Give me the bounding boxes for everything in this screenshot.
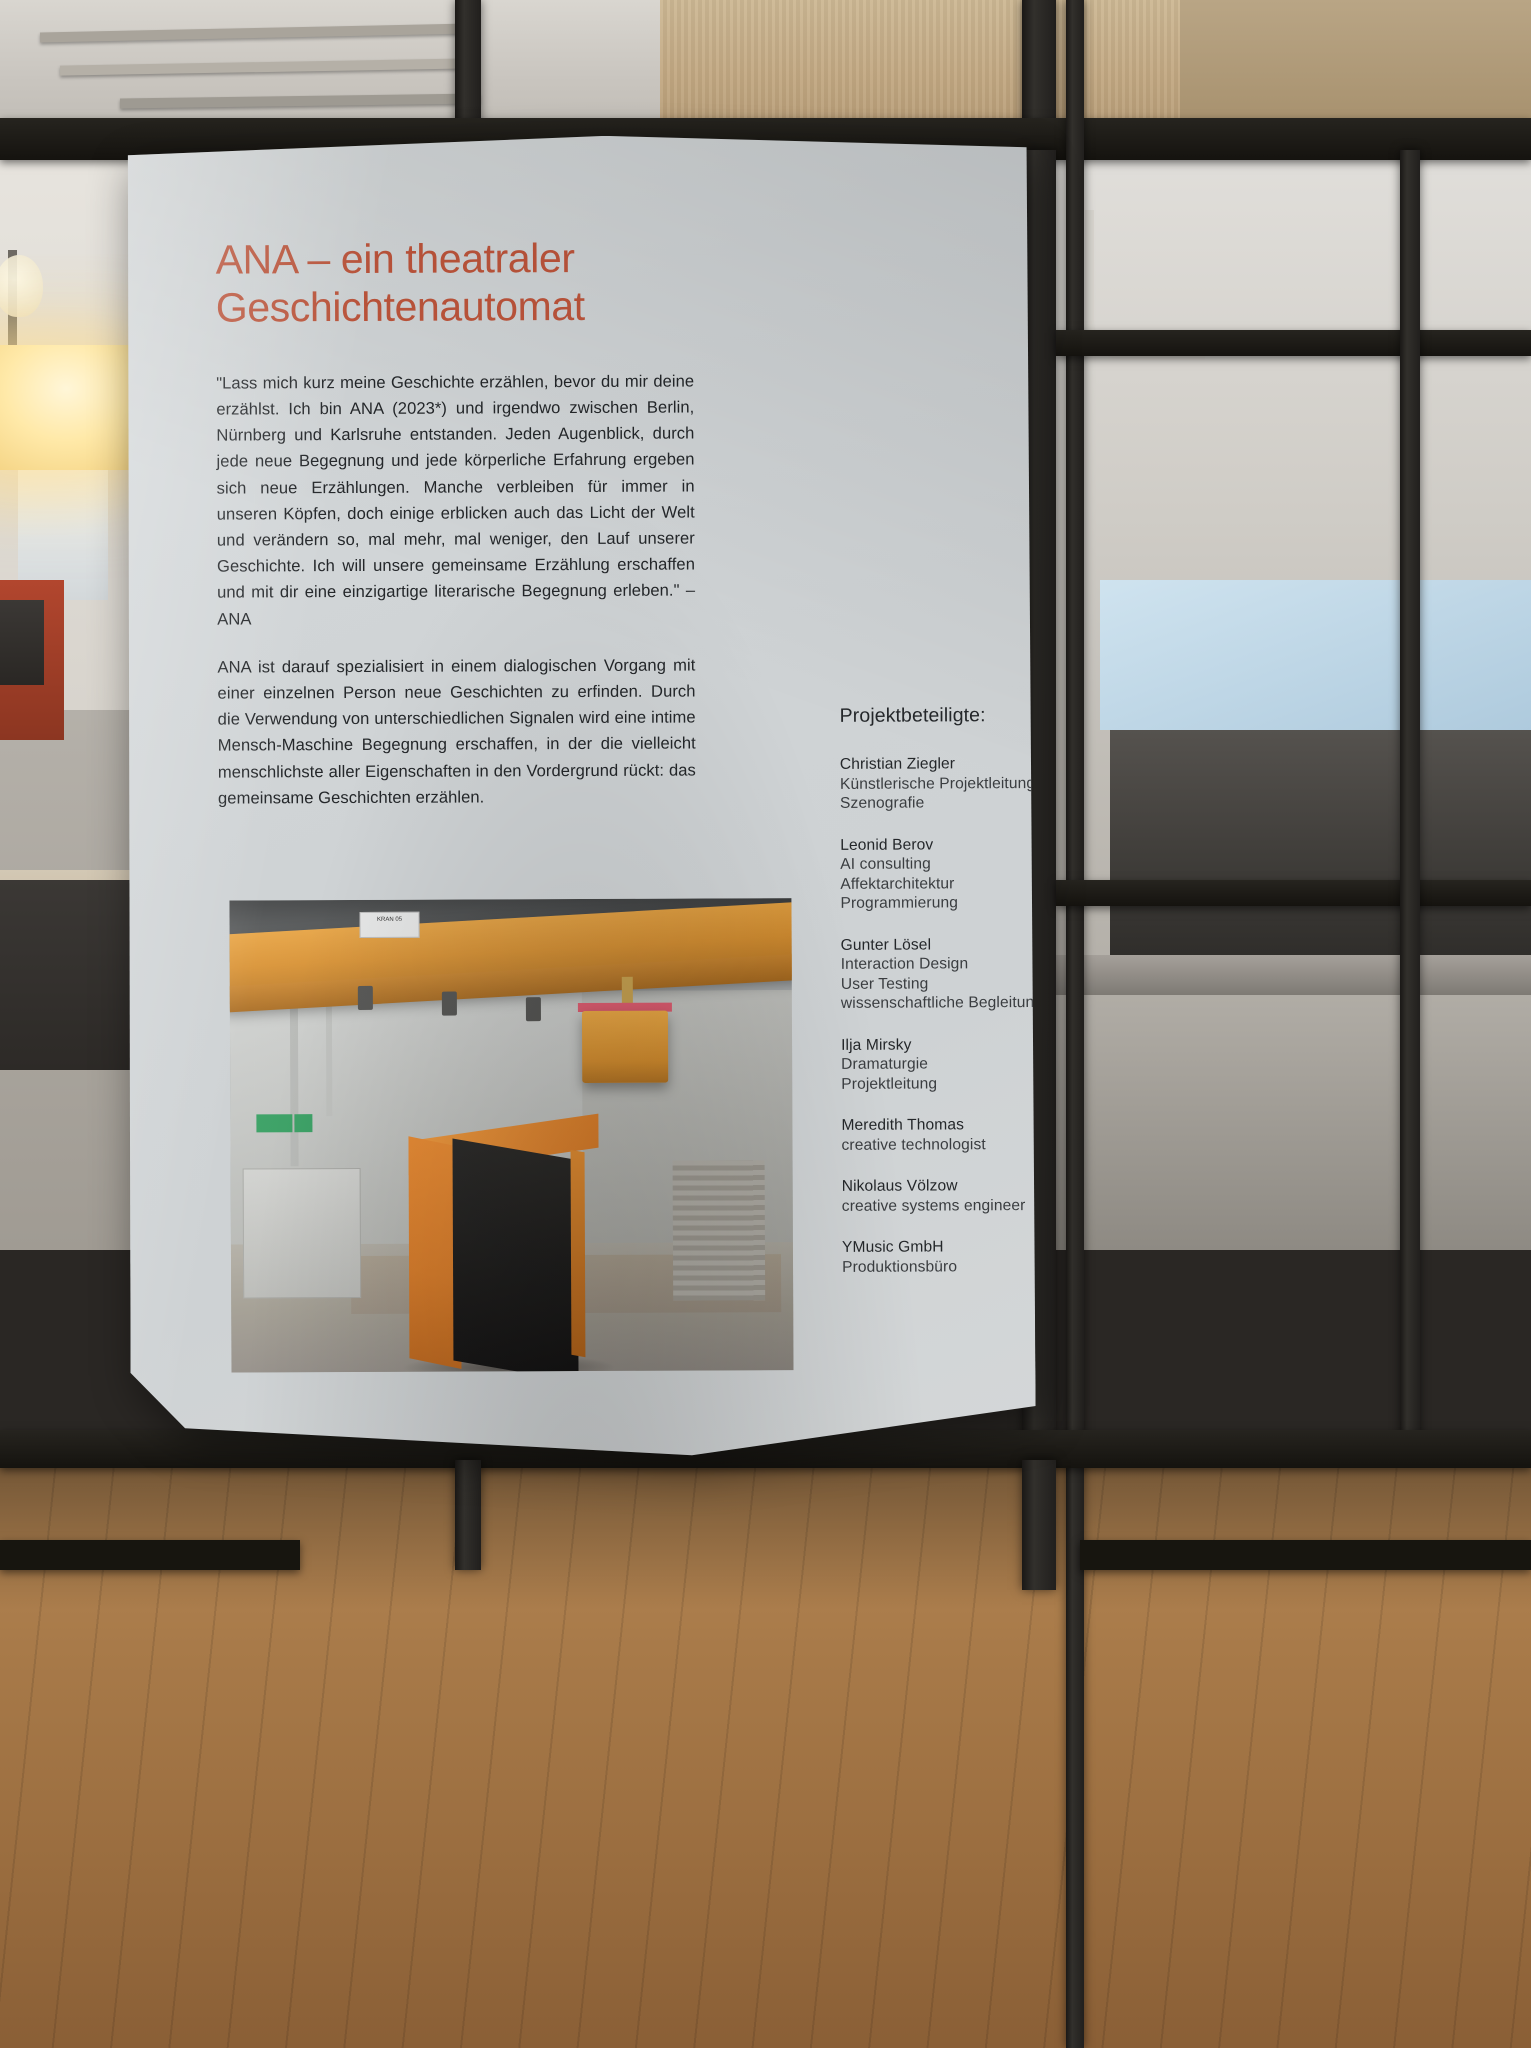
photo-crane-rail: [578, 1003, 672, 1012]
credit-name: Meredith Thomas: [841, 1115, 1035, 1136]
exit-sign-icon: [294, 1114, 312, 1132]
photo-crane-beam: [229, 900, 793, 1009]
photo-wall-right: [582, 990, 793, 1321]
photo-floor: [231, 1242, 794, 1372]
credits-heading: Projektbeteiligte:: [840, 704, 1036, 728]
credit-role: creative systems engineer: [842, 1196, 1036, 1217]
photo-kiosk-side: [408, 1136, 461, 1369]
credit-name: YMusic GmbH: [842, 1237, 1036, 1258]
credit-role: Affektarchitektur: [840, 874, 1036, 895]
credit-entry: Gunter LöselInteraction DesignUser Testi…: [841, 935, 1036, 1014]
photo-crane-basket: [582, 1011, 668, 1083]
photo-crane-beam-lower: [229, 952, 793, 1013]
credit-entry: Ilja MirskyDramaturgieProjektleitung: [841, 1035, 1036, 1095]
photo-shutter: [673, 1160, 766, 1300]
credit-entry: YMusic GmbHProduktionsbüro: [842, 1237, 1036, 1277]
credit-entry: Meredith Thomascreative technologist: [841, 1115, 1035, 1155]
page-title: ANA – ein theatraler Geschichtenautomat: [216, 232, 995, 332]
credit-name: Ilja Mirsky: [841, 1035, 1036, 1056]
plywood-wall: [1180, 0, 1531, 120]
shelf-beam: [1056, 880, 1531, 906]
photo-lamp: [358, 986, 373, 1010]
credit-role: Künstlerische Projektleitung: [840, 774, 1036, 795]
shelf-beam: [1080, 1540, 1531, 1570]
credit-entry: Nikolaus Völzowcreative systems engineer: [842, 1176, 1036, 1216]
body-text-column: "Lass mich kurz meine Geschichte erzähle…: [216, 368, 696, 811]
photo-kiosk-edge: [571, 1150, 586, 1357]
credit-role: wissenschaftliche Begleitung: [841, 993, 1036, 1014]
photo-lamp: [442, 992, 457, 1016]
credit-entry: Christian ZieglerKünstlerische Projektle…: [840, 754, 1036, 814]
table-edge: [1040, 955, 1531, 995]
credit-role: creative technologist: [841, 1135, 1035, 1156]
credit-role: AI consulting: [840, 854, 1036, 875]
dark-furniture: [1110, 730, 1531, 960]
credit-entry: Leonid BerovAI consultingAffektarchitekt…: [840, 835, 1036, 914]
credit-name: Gunter Lösel: [841, 935, 1036, 956]
credit-role: Produktionsbüro: [842, 1257, 1036, 1278]
credit-name: Christian Ziegler: [840, 754, 1036, 775]
photo-door: [243, 1168, 362, 1299]
photo-pipe: [290, 996, 299, 1166]
photo-kiosk-shadow: [401, 1354, 616, 1373]
quote-paragraph: "Lass mich kurz meine Geschichte erzähle…: [216, 368, 695, 632]
plywood-wall: [660, 0, 1180, 130]
photo-ceiling: [229, 898, 791, 962]
shelf-post: [1022, 1460, 1056, 1590]
photo-wall: [230, 990, 793, 1322]
photo-lamp: [526, 997, 541, 1021]
project-photo: KRAN 05: [229, 898, 793, 1372]
photo-kiosk-front: [452, 1139, 578, 1373]
shelf-beam: [0, 1540, 300, 1570]
photo-kiosk-top: [408, 1114, 598, 1176]
photo-floor-band: [351, 1254, 781, 1314]
lamp-bulb: [0, 255, 43, 317]
credit-name: Nikolaus Völzow: [842, 1176, 1036, 1197]
poster: ANA – ein theatraler Geschichtenautomat …: [128, 136, 1033, 1461]
credits-list: Christian ZieglerKünstlerische Projektle…: [840, 754, 1036, 1277]
credit-role: Dramaturgie: [841, 1054, 1036, 1075]
exit-sign-icon: [256, 1114, 292, 1132]
speaker: [0, 600, 44, 685]
credits-column: Projektbeteiligte: Christian ZieglerKüns…: [840, 704, 1036, 1299]
credit-role: Programmierung: [840, 893, 1035, 914]
screen: [1100, 580, 1531, 730]
credit-role: Interaction Design: [841, 954, 1036, 975]
credit-role: Projektleitung: [841, 1074, 1036, 1095]
photo-pipe: [326, 996, 333, 1116]
credit-name: Leonid Berov: [840, 835, 1036, 856]
shelf-beam: [1056, 330, 1531, 356]
credit-role: User Testing: [841, 974, 1036, 995]
description-paragraph: ANA ist darauf spezialisiert in einem di…: [217, 652, 696, 811]
credit-role: Szenografie: [840, 793, 1036, 814]
shelf-post: [1400, 150, 1420, 1450]
shelf-post: [1066, 0, 1084, 2048]
shelf-post: [455, 1460, 481, 1570]
photo-crane-label: KRAN 05: [359, 912, 419, 938]
photo-crane-arm: [622, 977, 633, 1017]
pendant-lamp: [0, 345, 145, 470]
